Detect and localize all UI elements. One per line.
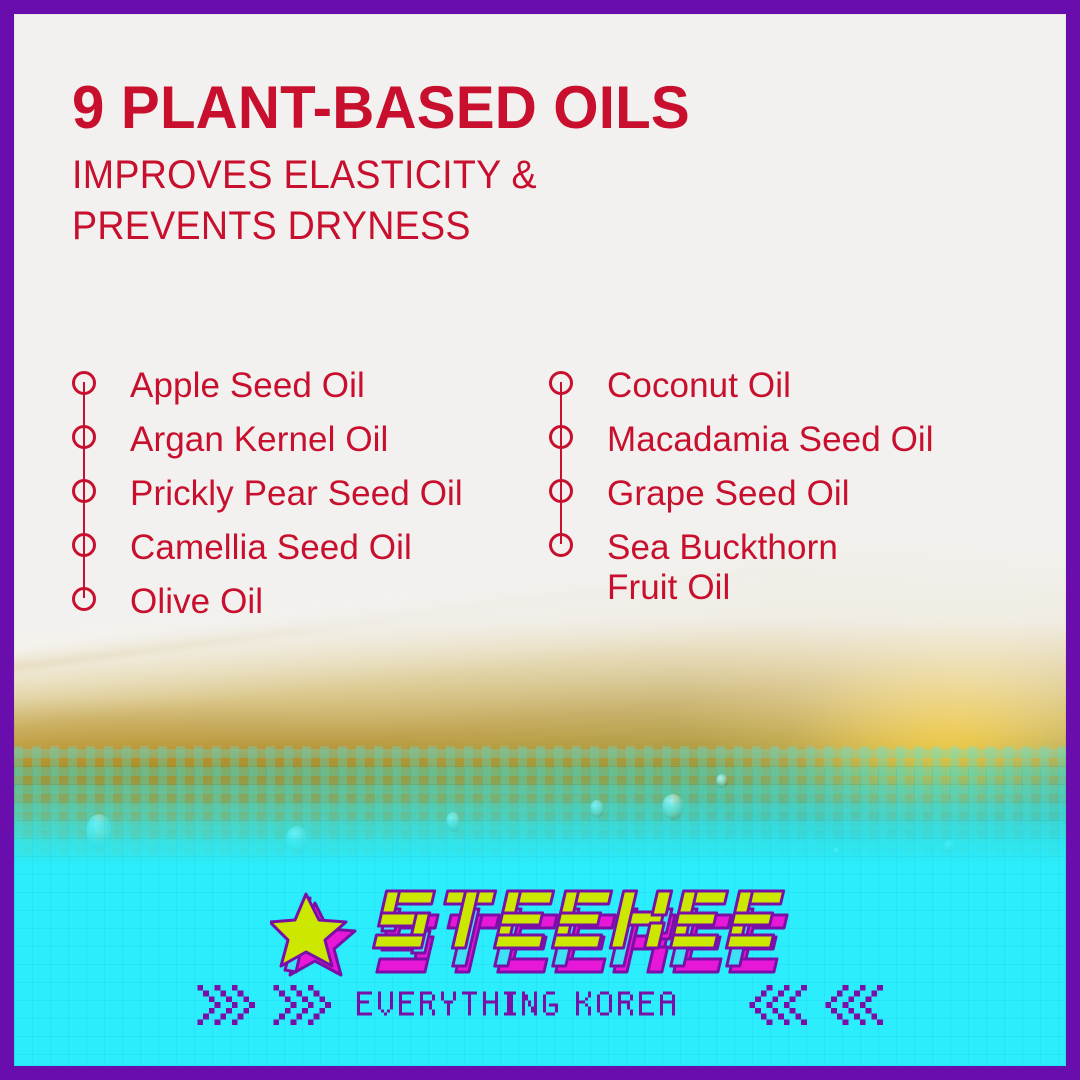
bullet-circle-icon [72, 425, 96, 449]
chevron-left-icon [821, 982, 887, 1028]
bullet-circle-icon [549, 425, 573, 449]
promo-card: 9 PLANT-BASED OILS IMPROVES ELASTICITY &… [14, 14, 1066, 1066]
tagline-pixel-text [357, 988, 723, 1022]
ingredient-name: Sea Buckthorn Fruit Oil [607, 528, 838, 608]
letter-T [429, 891, 505, 972]
list-item: Coconut Oil [549, 366, 1026, 420]
double-chevron-left-icon [745, 982, 887, 1028]
bullet-circle-icon [72, 533, 96, 557]
ingredient-name: Coconut Oil [607, 366, 791, 406]
ingredient-name: Prickly Pear Seed Oil [130, 474, 463, 514]
subtitle-line-2: PREVENTS DRYNESS [72, 201, 969, 252]
list-item: Macadamia Seed Oil [549, 420, 1026, 474]
list-item: Argan Kernel Oil [72, 420, 549, 474]
letter-S [368, 891, 444, 972]
subtitle-line-1: IMPROVES ELASTICITY & [72, 150, 969, 201]
list-item: Camellia Seed Oil [72, 528, 549, 582]
ingredient-list-right: Coconut Oil Macadamia Seed Oil Grape See… [549, 366, 1026, 608]
bullet-circle-icon [549, 533, 573, 557]
brand-logo [14, 872, 1066, 980]
list-item: Olive Oil [72, 582, 549, 636]
tagline-row [14, 982, 1066, 1028]
double-chevron-right-icon [193, 982, 335, 1028]
bullet-circle-icon [549, 371, 573, 395]
tagline-text [357, 988, 723, 1022]
ingredient-name: Argan Kernel Oil [130, 420, 388, 460]
ingredient-name: Macadamia Seed Oil [607, 420, 934, 460]
ingredient-lists: Apple Seed Oil Argan Kernel Oil Prickly … [72, 366, 1026, 636]
letter-E-2 [547, 891, 621, 972]
ingredient-column-right: Coconut Oil Macadamia Seed Oil Grape See… [549, 366, 1026, 636]
chevron-right-icon [269, 982, 335, 1028]
promo-graphic: 9 PLANT-BASED OILS IMPROVES ELASTICITY &… [0, 0, 1080, 1080]
letter-E-3 [665, 891, 737, 972]
chevron-right-icon [193, 982, 259, 1028]
bullet-circle-icon [72, 371, 96, 395]
ingredient-name: Grape Seed Oil [607, 474, 850, 514]
ingredient-list-left: Apple Seed Oil Argan Kernel Oil Prickly … [72, 366, 549, 636]
list-item: Grape Seed Oil [549, 474, 1026, 528]
bullet-circle-icon [72, 587, 96, 611]
bullet-circle-icon [72, 479, 96, 503]
ingredient-column-left: Apple Seed Oil Argan Kernel Oil Prickly … [72, 366, 549, 636]
page-title: 9 PLANT-BASED OILS [72, 76, 997, 140]
ingredient-name: Olive Oil [130, 582, 263, 622]
list-item: Apple Seed Oil [72, 366, 549, 420]
letter-K [605, 891, 681, 972]
star-icon [270, 894, 355, 975]
wordmark-steekee [270, 872, 810, 980]
wordmark-svg [270, 872, 810, 980]
ingredient-name: Apple Seed Oil [130, 366, 365, 406]
chevron-left-icon [745, 982, 811, 1028]
subtitle: IMPROVES ELASTICITY & PREVENTS DRYNESS [72, 150, 969, 252]
list-item: Prickly Pear Seed Oil [72, 474, 549, 528]
letter-E-4 [721, 891, 793, 972]
letter-E-1 [489, 891, 563, 972]
ingredient-name: Camellia Seed Oil [130, 528, 412, 568]
list-item: Sea Buckthorn Fruit Oil [549, 528, 1026, 608]
headline-block: 9 PLANT-BASED OILS IMPROVES ELASTICITY &… [72, 76, 1026, 252]
bullet-circle-icon [549, 479, 573, 503]
